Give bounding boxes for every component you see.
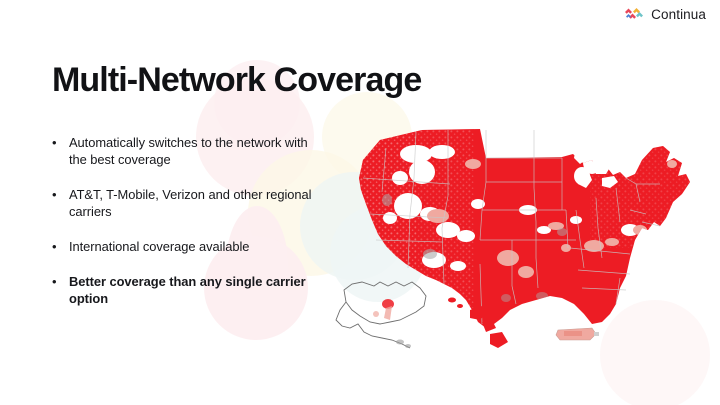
us-coverage-map bbox=[330, 118, 712, 364]
page-title: Multi-Network Coverage bbox=[52, 61, 421, 100]
slide-canvas: Continua Multi-Network Coverage • Automa… bbox=[0, 0, 720, 405]
brand-logo: Continua bbox=[624, 7, 706, 23]
list-item: • Better coverage than any single carrie… bbox=[50, 273, 318, 307]
continua-chevrons-logo-icon bbox=[624, 7, 644, 23]
list-item-label: Automatically switches to the network wi… bbox=[69, 134, 318, 168]
bullet-marker-icon: • bbox=[50, 134, 69, 151]
feature-bullet-list: • Automatically switches to the network … bbox=[50, 134, 318, 307]
bullet-marker-icon: • bbox=[50, 273, 69, 290]
list-item: • AT&T, T-Mobile, Verizon and other regi… bbox=[50, 186, 318, 220]
brand-name: Continua bbox=[651, 8, 706, 22]
map-inset-alaska bbox=[336, 282, 426, 348]
list-item: • Automatically switches to the network … bbox=[50, 134, 318, 168]
us-coverage-map-graphic bbox=[330, 118, 712, 364]
map-inset-puerto-rico bbox=[556, 328, 599, 340]
bullet-marker-icon: • bbox=[50, 238, 69, 255]
list-item-label: Better coverage than any single carrier … bbox=[69, 273, 318, 307]
map-lower-48 bbox=[356, 128, 700, 328]
list-item: • International coverage available bbox=[50, 238, 318, 255]
bullet-marker-icon: • bbox=[50, 186, 69, 203]
list-item-label: International coverage available bbox=[69, 238, 249, 255]
list-item-label: AT&T, T-Mobile, Verizon and other region… bbox=[69, 186, 318, 220]
